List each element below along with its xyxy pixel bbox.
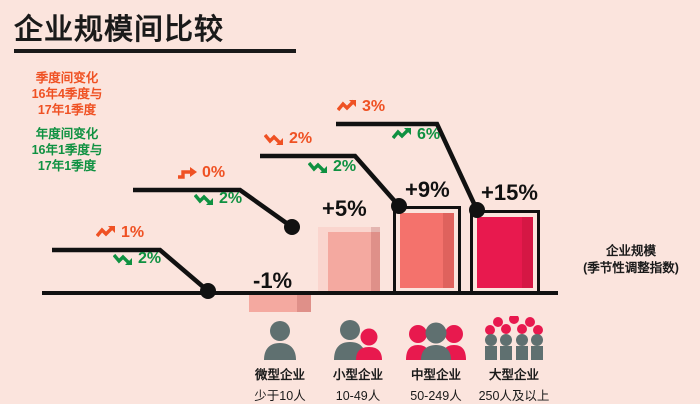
delta-quarterly-small-label: 0% bbox=[202, 164, 225, 182]
delta-quarterly-small: 0% bbox=[177, 164, 225, 182]
bar-large-fill bbox=[477, 217, 533, 288]
delta-annual-small-label: 2% bbox=[219, 190, 242, 208]
legend-quarterly-change: 季度间变化 16年4季度与 17年1季度 bbox=[6, 70, 128, 118]
arrow-down-icon bbox=[264, 131, 286, 147]
legend-annual-change: 年度间变化 16年1季度与 17年1季度 bbox=[6, 126, 128, 174]
crowd-icon bbox=[466, 316, 562, 360]
category-large-range: 250人及以上 bbox=[466, 385, 562, 404]
bar-micro-edge bbox=[297, 295, 311, 312]
connector-dot-small bbox=[284, 219, 300, 235]
arrow-down-icon bbox=[308, 159, 330, 175]
delta-quarterly-medium: 2% bbox=[264, 130, 312, 148]
delta-quarterly-large: 3% bbox=[337, 98, 385, 116]
bar-medium-fill bbox=[400, 213, 454, 288]
bar-value-large: +15% bbox=[481, 180, 538, 206]
baseline-axis bbox=[42, 291, 558, 295]
delta-annual-micro-label: 2% bbox=[138, 250, 161, 268]
legend-quarterly-line-2: 16年4季度与 bbox=[6, 86, 128, 102]
delta-annual-small: 2% bbox=[194, 190, 242, 208]
bar-value-small: +5% bbox=[322, 196, 367, 222]
bar-medium-edge bbox=[443, 213, 454, 288]
arrow-up-icon bbox=[392, 127, 414, 143]
infographic-chart: 企业规模间比较 季度间变化 16年4季度与 17年1季度 年度间变化 16年1季… bbox=[0, 0, 700, 404]
arrow-flat-icon bbox=[177, 165, 199, 181]
legend-annual-line-2: 16年1季度与 bbox=[6, 142, 128, 158]
delta-quarterly-large-label: 3% bbox=[362, 98, 385, 116]
category-large-enterprise: 大型企业 250人及以上 bbox=[466, 316, 562, 404]
axis-caption-line-1: 企业规模 bbox=[566, 243, 696, 260]
delta-annual-medium-label: 2% bbox=[333, 158, 356, 176]
bar-small-enterprise bbox=[318, 227, 380, 291]
category-large-name: 大型企业 bbox=[466, 364, 562, 383]
bar-value-micro: -1% bbox=[253, 268, 292, 294]
legend-annual-line-1: 年度间变化 bbox=[6, 126, 128, 142]
bar-medium-enterprise bbox=[393, 206, 461, 295]
title-underline bbox=[14, 49, 296, 53]
delta-quarterly-medium-label: 2% bbox=[289, 130, 312, 148]
bar-small-edge bbox=[371, 227, 380, 291]
delta-quarterly-micro: 1% bbox=[96, 224, 144, 242]
page-title: 企业规模间比较 bbox=[14, 6, 224, 48]
delta-annual-micro: 2% bbox=[113, 250, 161, 268]
arrow-up-icon bbox=[96, 225, 118, 241]
legend-annual-line-3: 17年1季度 bbox=[6, 158, 128, 174]
delta-quarterly-micro-label: 1% bbox=[121, 224, 144, 242]
bar-value-medium: +9% bbox=[405, 177, 450, 203]
delta-annual-large-label: 6% bbox=[417, 126, 440, 144]
bar-micro-enterprise bbox=[249, 295, 311, 312]
arrow-down-icon bbox=[113, 251, 135, 267]
legend-quarterly-line-3: 17年1季度 bbox=[6, 102, 128, 118]
arrow-down-icon bbox=[194, 191, 216, 207]
bar-large-edge bbox=[522, 217, 533, 288]
arrow-up-icon bbox=[337, 99, 359, 115]
delta-annual-large: 6% bbox=[392, 126, 440, 144]
axis-caption-line-2: (季节性调整指数) bbox=[566, 260, 696, 277]
axis-caption: 企业规模 (季节性调整指数) bbox=[566, 243, 696, 277]
bar-large-enterprise bbox=[470, 210, 540, 295]
legend-quarterly-line-1: 季度间变化 bbox=[6, 70, 128, 86]
delta-annual-medium: 2% bbox=[308, 158, 356, 176]
